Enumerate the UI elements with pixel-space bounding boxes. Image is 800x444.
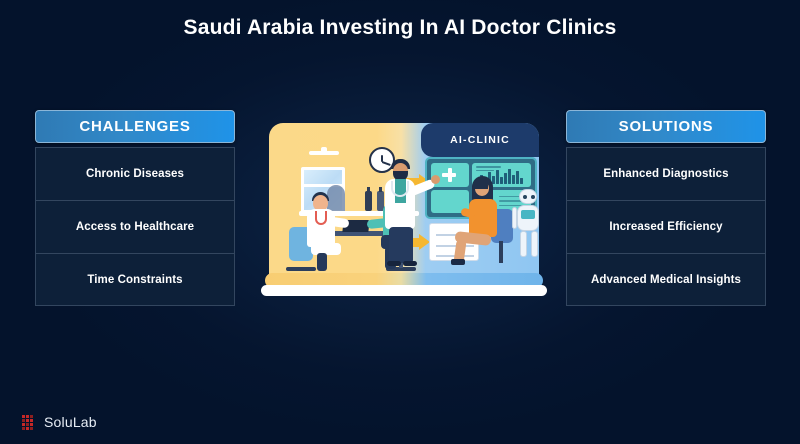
ai-clinic-banner: AI-CLINIC [421,123,539,157]
challenges-header: CHALLENGES [35,110,235,143]
chair-base [286,267,316,271]
scene-base [261,285,547,296]
list-item[interactable]: Access to Healthcare [35,200,235,253]
chair-post [499,241,503,263]
ai-doctor-legs [389,227,413,263]
list-item[interactable]: Time Constraints [35,253,235,306]
bottle-icon [365,191,372,211]
woman-patient-body [469,199,497,237]
challenges-list: Chronic Diseases Access to Healthcare Ti… [35,147,235,306]
ai-clinic-label: AI-CLINIC [450,134,510,146]
solutions-list: Enhanced Diagnostics Increased Efficienc… [566,147,766,306]
list-item[interactable]: Increased Efficiency [566,200,766,253]
page-title: Saudi Arabia Investing In AI Doctor Clin… [0,16,800,40]
wall-clock-icon [369,147,395,173]
list-item[interactable]: Chronic Diseases [35,147,235,200]
stethoscope-icon [315,211,327,225]
solutions-column: SOLUTIONS Enhanced Diagnostics Increased… [566,110,766,306]
ai-doctor-shoe [387,261,401,266]
doctor-shin [317,253,327,271]
robot-leg [531,231,538,257]
clinic-illustration: AI-CLINIC [251,105,557,305]
clock-minute-hand [382,161,391,166]
woman-patient-fringe [474,178,488,189]
ceiling-light-icon [309,151,339,155]
challenges-column: CHALLENGES Chronic Diseases Access to He… [35,110,235,306]
list-item[interactable]: Enhanced Diagnostics [566,147,766,200]
robot-eye [523,195,527,199]
robot-chest-panel [521,210,535,219]
solutions-header: SOLUTIONS [566,110,766,143]
poster-figure-icon [327,185,345,211]
woman-patient-shoe [451,259,465,265]
scene-card: AI-CLINIC [269,123,539,278]
robot-leg [520,231,527,257]
ai-doctor-hand [431,175,440,184]
robot-eye [531,195,535,199]
brand-name: SoluLab [44,414,97,430]
ai-doctor-shoe [403,261,417,266]
solulab-mark-icon [22,415,37,430]
brand-logo[interactable]: SoluLab [22,414,97,430]
list-item[interactable]: Advanced Medical Insights [566,253,766,306]
